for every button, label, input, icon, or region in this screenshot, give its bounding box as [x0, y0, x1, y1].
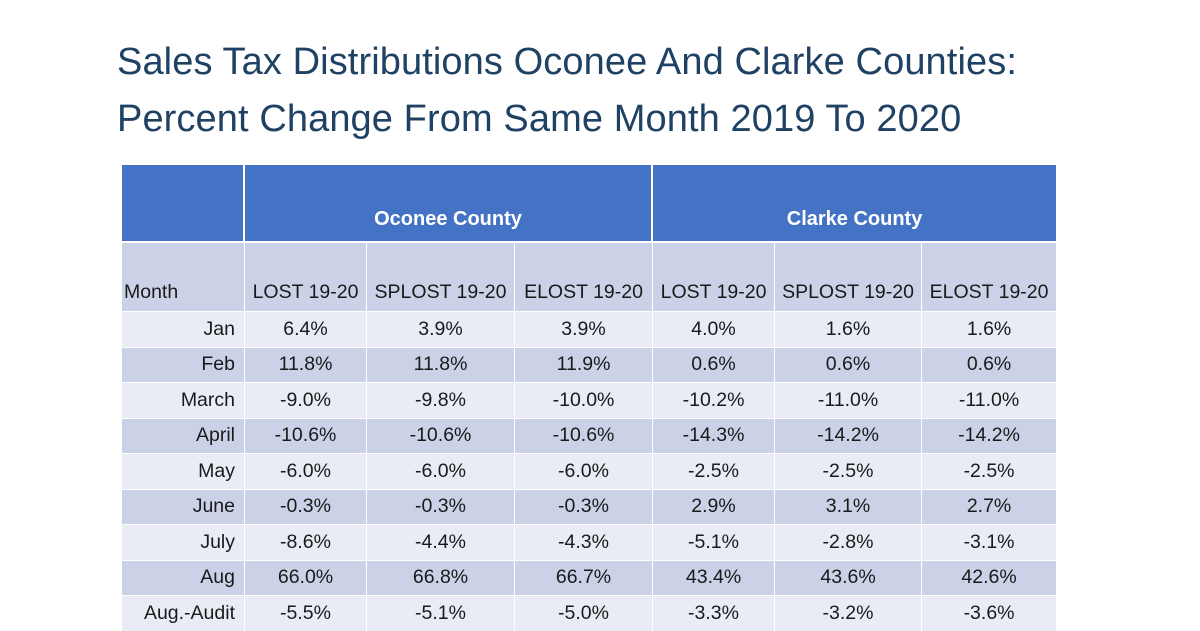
cell-oconee-lost: -9.0% — [245, 382, 367, 418]
cell-clarke-elost: -11.0% — [922, 382, 1056, 418]
cell-clarke-splost: -2.8% — [775, 524, 922, 560]
slide: Sales Tax Distributions Oconee And Clark… — [0, 0, 1200, 630]
row-label-month: July — [122, 524, 245, 560]
cell-clarke-lost: -2.5% — [653, 453, 775, 489]
row-label-month: March — [122, 382, 245, 418]
cell-clarke-lost: -10.2% — [653, 382, 775, 418]
cell-clarke-splost: -14.2% — [775, 418, 922, 454]
column-header-clarke-elost: ELOST 19-20 — [922, 241, 1056, 311]
cell-clarke-splost: -11.0% — [775, 382, 922, 418]
row-label-month: Aug — [122, 560, 245, 596]
cell-oconee-splost: -6.0% — [367, 453, 515, 489]
sales-tax-table: Oconee County Clarke County Month LOST 1… — [122, 165, 1056, 631]
cell-oconee-elost: -10.0% — [515, 382, 653, 418]
row-label-month: May — [122, 453, 245, 489]
cell-clarke-elost: -3.6% — [922, 595, 1056, 631]
cell-oconee-lost: 11.8% — [245, 347, 367, 383]
cell-clarke-lost: -14.3% — [653, 418, 775, 454]
row-label-month: Aug.-Audit — [122, 595, 245, 631]
cell-oconee-lost: -5.5% — [245, 595, 367, 631]
cell-clarke-elost: -14.2% — [922, 418, 1056, 454]
sales-tax-table-container: Oconee County Clarke County Month LOST 1… — [122, 165, 1056, 631]
cell-oconee-lost: 66.0% — [245, 560, 367, 596]
cell-clarke-splost: 3.1% — [775, 489, 922, 525]
cell-clarke-elost: 42.6% — [922, 560, 1056, 596]
row-label-month: Jan — [122, 311, 245, 347]
cell-clarke-lost: 43.4% — [653, 560, 775, 596]
row-label-month: June — [122, 489, 245, 525]
table-row: March -9.0% -9.8% -10.0% -10.2% -11.0% -… — [122, 382, 1056, 418]
cell-clarke-elost: -3.1% — [922, 524, 1056, 560]
column-header-oconee-lost: LOST 19-20 — [245, 241, 367, 311]
cell-oconee-splost: -5.1% — [367, 595, 515, 631]
cell-oconee-elost: -5.0% — [515, 595, 653, 631]
table-corner-cell — [122, 165, 245, 241]
row-label-month: Feb — [122, 347, 245, 383]
cell-oconee-elost: -0.3% — [515, 489, 653, 525]
column-header-clarke-splost: SPLOST 19-20 — [775, 241, 922, 311]
cell-clarke-elost: -2.5% — [922, 453, 1056, 489]
table-row: June -0.3% -0.3% -0.3% 2.9% 3.1% 2.7% — [122, 489, 1056, 525]
cell-clarke-elost: 2.7% — [922, 489, 1056, 525]
group-header-oconee-county: Oconee County — [245, 165, 653, 241]
cell-oconee-splost: 3.9% — [367, 311, 515, 347]
cell-oconee-elost: 11.9% — [515, 347, 653, 383]
cell-oconee-splost: 11.8% — [367, 347, 515, 383]
table-row: Jan 6.4% 3.9% 3.9% 4.0% 1.6% 1.6% — [122, 311, 1056, 347]
table-group-header-row: Oconee County Clarke County — [122, 165, 1056, 241]
column-header-oconee-splost: SPLOST 19-20 — [367, 241, 515, 311]
cell-oconee-splost: -9.8% — [367, 382, 515, 418]
table-row: Aug.-Audit -5.5% -5.1% -5.0% -3.3% -3.2%… — [122, 595, 1056, 631]
cell-oconee-elost: 3.9% — [515, 311, 653, 347]
cell-oconee-elost: 66.7% — [515, 560, 653, 596]
cell-clarke-splost: -3.2% — [775, 595, 922, 631]
table-row: May -6.0% -6.0% -6.0% -2.5% -2.5% -2.5% — [122, 453, 1056, 489]
cell-clarke-splost: -2.5% — [775, 453, 922, 489]
cell-oconee-splost: -10.6% — [367, 418, 515, 454]
table-row: July -8.6% -4.4% -4.3% -5.1% -2.8% -3.1% — [122, 524, 1056, 560]
table-row: April -10.6% -10.6% -10.6% -14.3% -14.2%… — [122, 418, 1056, 454]
row-label-month: April — [122, 418, 245, 454]
cell-oconee-elost: -4.3% — [515, 524, 653, 560]
cell-oconee-lost: 6.4% — [245, 311, 367, 347]
cell-clarke-splost: 1.6% — [775, 311, 922, 347]
cell-oconee-lost: -6.0% — [245, 453, 367, 489]
cell-oconee-lost: -8.6% — [245, 524, 367, 560]
cell-clarke-lost: -5.1% — [653, 524, 775, 560]
cell-clarke-elost: 1.6% — [922, 311, 1056, 347]
title-line-1: Sales Tax Distributions Oconee And Clark… — [117, 34, 1077, 91]
cell-oconee-elost: -10.6% — [515, 418, 653, 454]
page-title: Sales Tax Distributions Oconee And Clark… — [117, 34, 1077, 148]
table-row: Feb 11.8% 11.8% 11.9% 0.6% 0.6% 0.6% — [122, 347, 1056, 383]
group-header-clarke-county: Clarke County — [653, 165, 1056, 241]
column-header-oconee-elost: ELOST 19-20 — [515, 241, 653, 311]
cell-clarke-lost: -3.3% — [653, 595, 775, 631]
column-header-clarke-lost: LOST 19-20 — [653, 241, 775, 311]
cell-oconee-splost: -0.3% — [367, 489, 515, 525]
cell-oconee-splost: -4.4% — [367, 524, 515, 560]
cell-oconee-lost: -0.3% — [245, 489, 367, 525]
cell-oconee-elost: -6.0% — [515, 453, 653, 489]
table-column-header-row: Month LOST 19-20 SPLOST 19-20 ELOST 19-2… — [122, 241, 1056, 311]
cell-clarke-splost: 0.6% — [775, 347, 922, 383]
cell-oconee-lost: -10.6% — [245, 418, 367, 454]
column-header-month: Month — [122, 241, 245, 311]
title-line-2: Percent Change From Same Month 2019 To 2… — [117, 91, 1077, 148]
cell-clarke-splost: 43.6% — [775, 560, 922, 596]
cell-clarke-lost: 4.0% — [653, 311, 775, 347]
cell-clarke-lost: 0.6% — [653, 347, 775, 383]
cell-clarke-elost: 0.6% — [922, 347, 1056, 383]
table-row: Aug 66.0% 66.8% 66.7% 43.4% 43.6% 42.6% — [122, 560, 1056, 596]
cell-clarke-lost: 2.9% — [653, 489, 775, 525]
cell-oconee-splost: 66.8% — [367, 560, 515, 596]
